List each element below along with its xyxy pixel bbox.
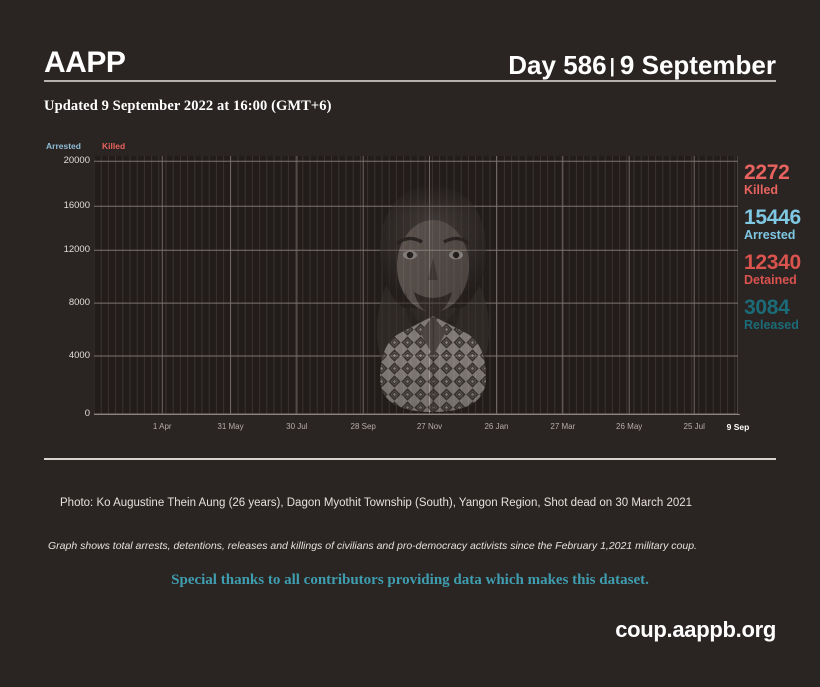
label-arrested: 15446 Arrested <box>744 207 801 242</box>
chart-gridlines <box>94 156 738 414</box>
x-tick: 27 Nov <box>417 423 442 431</box>
chart-container: Arrested Killed 040008000120001600020000… <box>44 142 776 432</box>
x-tick: 26 May <box>616 423 642 431</box>
x-tick: 9 Sep <box>727 423 750 432</box>
y-axis-left-title: Arrested <box>46 142 81 151</box>
title-separator: | <box>610 57 615 76</box>
website-url: coup.aappb.org <box>615 617 776 643</box>
x-tick: 25 Jul <box>684 423 705 431</box>
x-tick: 30 Jul <box>286 423 307 431</box>
detained-caption: Detained <box>744 274 801 287</box>
y-tick-left: 16000 <box>44 201 90 211</box>
title-date: 9 September <box>620 50 776 80</box>
y-tick-left: 8000 <box>44 298 90 308</box>
footer-divider <box>44 458 776 460</box>
arrested-caption: Arrested <box>744 229 801 242</box>
released-value: 3084 <box>744 297 799 318</box>
killed-value: 2272 <box>744 162 790 183</box>
label-killed: 2272 Killed <box>744 162 790 197</box>
y-tick-left: 12000 <box>44 245 90 255</box>
thanks-note: Special thanks to all contributors provi… <box>0 572 820 589</box>
graph-note: Graph shows total arrests, detentions, r… <box>48 539 778 553</box>
page-title: Day 586|9 September <box>508 52 776 78</box>
arrested-value: 15446 <box>744 207 801 228</box>
y-tick-left: 4000 <box>44 351 90 361</box>
plot-area <box>94 156 738 414</box>
released-caption: Released <box>744 319 799 332</box>
killed-caption: Killed <box>744 184 790 197</box>
detained-value: 12340 <box>744 252 801 273</box>
brand-title: AAPP <box>44 48 125 78</box>
y-tick-left: 20000 <box>44 156 90 166</box>
day-counter: Day 586 <box>508 50 606 80</box>
label-released: 3084 Released <box>744 297 799 332</box>
x-axis-line <box>94 414 740 415</box>
x-tick: 28 Sep <box>351 423 376 431</box>
x-tick: 26 Jan <box>484 423 508 431</box>
x-tick: 27 Mar <box>550 423 575 431</box>
updated-timestamp: Updated 9 September 2022 at 16:00 (GMT+6… <box>44 98 332 115</box>
infographic-root: AAPP Day 586|9 September Updated 9 Septe… <box>0 0 820 687</box>
x-tick: 31 May <box>217 423 243 431</box>
header-divider <box>44 80 776 82</box>
photo-credit: Photo: Ko Augustine Thein Aung (26 years… <box>60 496 780 511</box>
y-tick-left: 0 <box>44 409 90 419</box>
header: AAPP Day 586|9 September <box>44 26 776 78</box>
x-tick: 1 Apr <box>153 423 172 431</box>
y-axis-right-title: Killed <box>102 142 125 151</box>
label-detained: 12340 Detained <box>744 252 801 287</box>
